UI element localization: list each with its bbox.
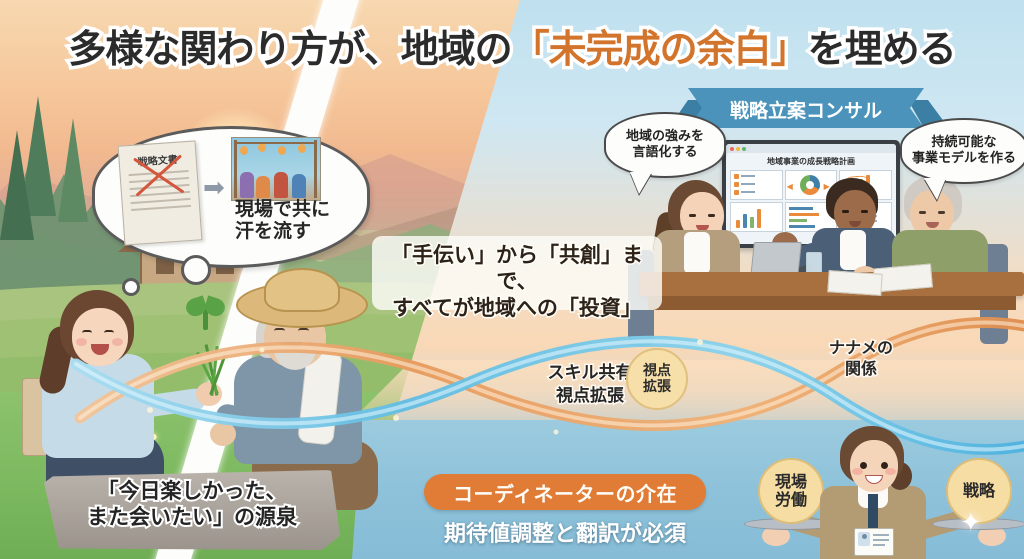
farmer-hand	[210, 422, 236, 446]
bottom-sub-caption: 期待値調整と翻訳が必須	[404, 516, 726, 548]
naname-line2: 関係	[806, 359, 916, 380]
infographic-canvas: ✦ ✦ ● ● ●	[0, 0, 1024, 559]
center-callout-line1: 「手伝い」から「共創」まで、	[372, 242, 662, 295]
thought-bubble: 戦略文書 ➡ 現場で共に 汗を流す	[92, 126, 370, 268]
ribbon-banner-label: 戦略立案コンサル	[688, 96, 924, 123]
office-floor	[352, 360, 1024, 420]
stone-caption-line1: 「今日楽しかった、	[44, 478, 340, 504]
thought-result-line1: 現場で共に	[235, 199, 355, 221]
speech-left-line1: 地域の強みを	[626, 129, 704, 145]
client-a-shirt	[840, 230, 866, 270]
consultant-shirt	[684, 232, 710, 274]
strategy-document-card: 戦略文書	[118, 140, 203, 245]
thought-bubble-dot	[122, 278, 140, 296]
center-callout-line2: すべてが地域への「投資」	[372, 295, 662, 321]
maximize-icon	[742, 147, 746, 151]
desk-front	[648, 296, 1016, 310]
thought-result-line2: 汗を流す	[235, 221, 355, 243]
pill-label: コーディネーターの介在	[453, 478, 677, 507]
slide-title: 地域事業の成長戦略計画	[726, 156, 896, 167]
coordinator-face	[850, 440, 898, 492]
volunteer-face	[72, 308, 128, 366]
viewpoint-expansion-badge: 視点 拡張	[626, 348, 688, 410]
stone-caption: 「今日楽しかった、 また会いたい」の源泉	[44, 478, 340, 530]
speech-left-line2: 言語化する	[626, 145, 704, 161]
speech-bubble-left: 地域の強みを 言語化する	[604, 112, 726, 178]
speech-tail-icon	[630, 172, 652, 194]
sparkle-icon: ✦	[960, 508, 982, 538]
bar-chart-card	[730, 202, 783, 232]
center-callout-text: 「手伝い」から「共創」まで、 すべてが地域への「投資」	[372, 242, 662, 321]
coordinator-balance-figure: 現場 労働 戦略 ✦	[742, 424, 1024, 559]
festival-photo	[231, 137, 321, 201]
minimize-icon	[736, 147, 740, 151]
thought-result-text: 現場で共に 汗を流す	[235, 199, 355, 242]
speech-tail-icon	[924, 178, 946, 200]
right-arrow-icon: ➡	[203, 175, 225, 201]
tree-icon	[58, 118, 88, 222]
coordinator-pill-banner: コーディネーターの介在	[424, 474, 706, 510]
page-title: 多様な関わり方が、地域の「未完成の余白」を埋める	[0, 18, 1024, 73]
title-highlight: 「未完成の余白」	[512, 27, 808, 71]
title-suffix: を埋める	[808, 27, 956, 71]
coin-left-line2: 労働	[775, 491, 807, 509]
badge-line1: 視点	[643, 363, 671, 379]
checklist-card	[730, 170, 783, 200]
rice-seedling-icon	[196, 344, 230, 400]
title-prefix: 多様な関わり方が、地域の	[68, 27, 511, 71]
speech-right-line2: 事業モデルを作る	[912, 151, 1016, 167]
document-sheet	[827, 270, 882, 296]
window-titlebar	[726, 144, 896, 153]
coin-right-label: 戦略	[963, 482, 995, 500]
lanyard	[868, 494, 878, 532]
speech-right-line1: 持続可能な	[912, 135, 1016, 151]
coin-field-labor: 現場 労働	[758, 458, 824, 524]
speech-bubble-right: 持続可能な 事業モデルを作る	[900, 118, 1024, 184]
strategy-document-label: 戦略文書	[119, 149, 196, 169]
stone-caption-line2: また会いたい」の源泉	[44, 504, 340, 530]
diagonal-relation-label: ナナメの 関係	[806, 338, 916, 380]
badge-line2: 拡張	[643, 379, 671, 395]
naname-line1: ナナメの	[806, 338, 916, 359]
id-badge-icon	[854, 528, 894, 556]
straw-hat-crown	[264, 268, 340, 312]
close-icon	[730, 147, 734, 151]
coin-left-line1: 現場	[775, 473, 807, 491]
